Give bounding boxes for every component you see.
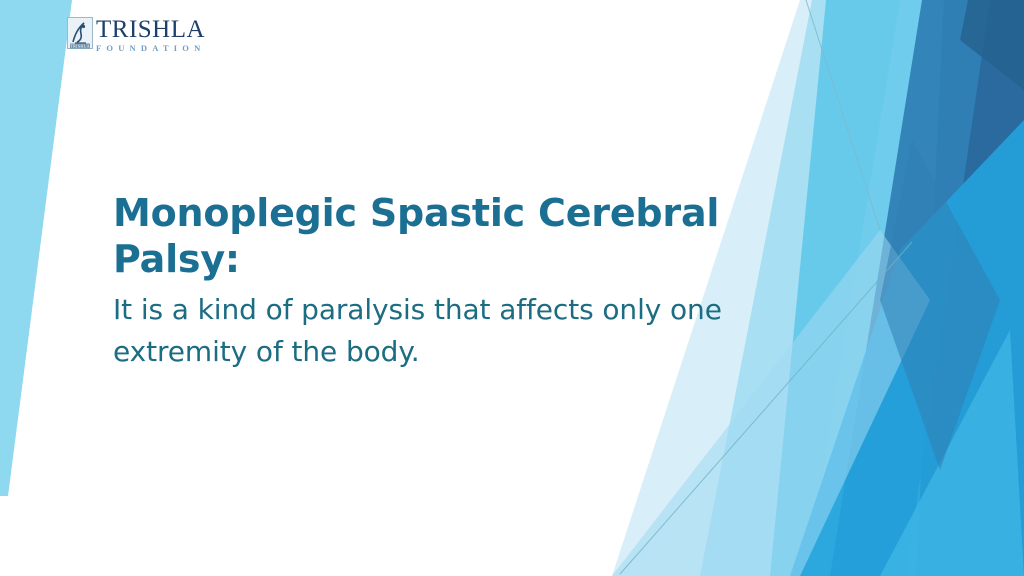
left-band-shape: [0, 0, 72, 496]
trishla-foundation-logo: TRISHLA TRISHLA FOUNDATION: [67, 17, 205, 54]
logo-name-text: TRISHLA: [96, 18, 205, 42]
emblem-caption-text: TRISHLA: [70, 44, 90, 49]
slide-body-text: It is a kind of paralysis that affects o…: [113, 289, 813, 373]
logo-wordmark: TRISHLA FOUNDATION: [96, 17, 205, 54]
presentation-slide: TRISHLA TRISHLA FOUNDATION Monoplegic Sp…: [0, 0, 1024, 576]
decorative-background: [0, 0, 1024, 576]
slide-title: Monoplegic Spastic Cerebral Palsy:: [113, 190, 833, 282]
trishla-emblem-icon: TRISHLA: [67, 17, 93, 49]
logo-tagline-text: FOUNDATION: [96, 43, 205, 54]
